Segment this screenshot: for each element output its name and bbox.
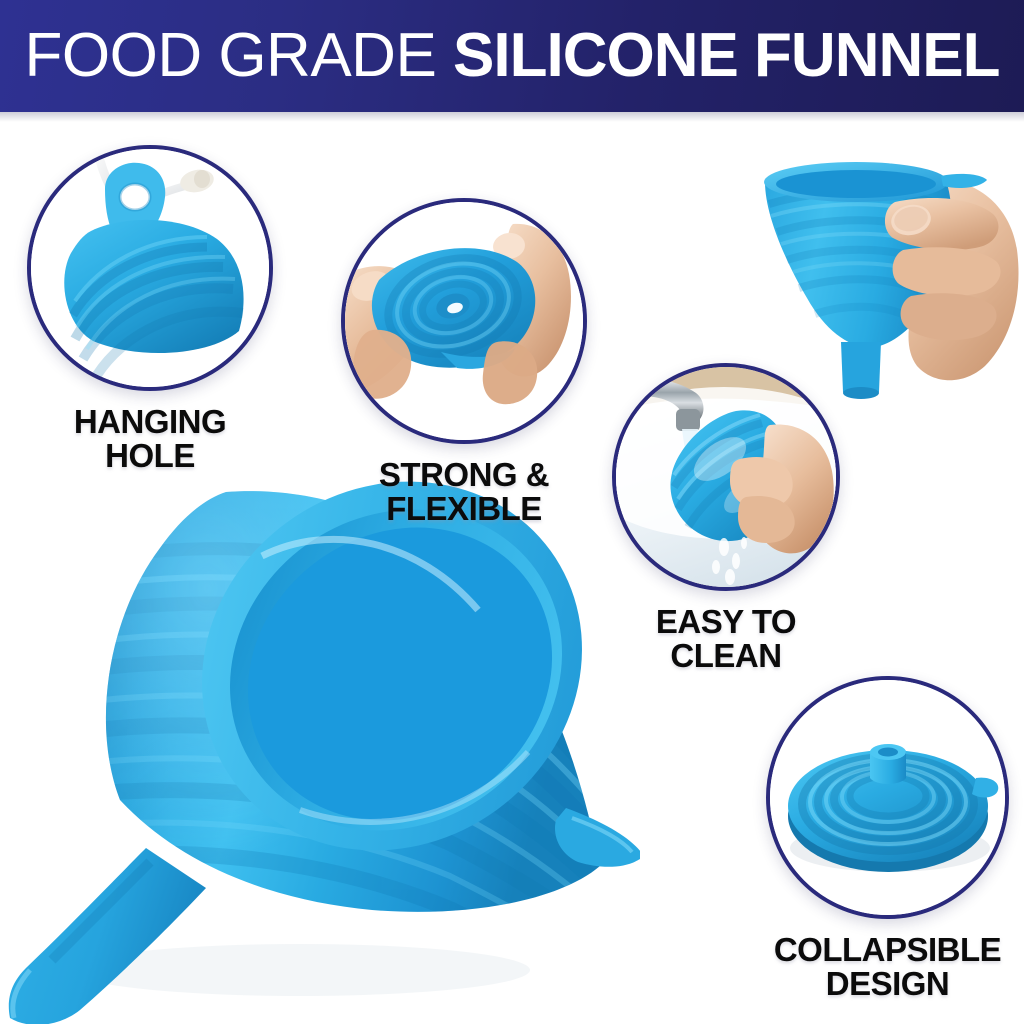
- hero-funnel-image: [0, 470, 640, 1024]
- feature-hanging-hole-caption: HANGING HOLE: [27, 405, 273, 474]
- feature-strong-flexible-caption: STRONG & FLEXIBLE: [341, 458, 587, 527]
- banner-shadow: [0, 112, 1024, 122]
- feature-strong-flexible-photo: [345, 202, 583, 440]
- caption-line-1: HANGING: [74, 403, 226, 440]
- caption-line-2: CLEAN: [612, 639, 840, 673]
- hand-fingers: [885, 198, 1001, 340]
- feature-collapsible-design-circle: [766, 676, 1009, 919]
- hero-funnel-art: [0, 470, 640, 1024]
- page-title-light: FOOD GRADE: [25, 21, 454, 90]
- caption-line-2: DESIGN: [766, 967, 1009, 1001]
- header-banner: FOOD GRADE SILICONE FUNNEL: [0, 0, 1024, 112]
- feature-strong-flexible: STRONG & FLEXIBLE: [341, 198, 587, 527]
- feature-hanging-hole-photo: [31, 149, 269, 387]
- feature-collapsible-design-caption: COLLAPSIBLE DESIGN: [766, 933, 1009, 1002]
- caption-line-1: STRONG &: [379, 456, 549, 493]
- caption-line-2: FLEXIBLE: [341, 492, 587, 526]
- page-title-bold: SILICONE FUNNEL: [453, 21, 999, 90]
- page-title: FOOD GRADE SILICONE FUNNEL: [15, 25, 1010, 87]
- caption-line-1: EASY TO: [656, 603, 796, 640]
- feature-easy-to-clean: EASY TO CLEAN: [612, 363, 840, 674]
- feature-collapsible-design: COLLAPSIBLE DESIGN: [766, 676, 1009, 1002]
- feature-easy-to-clean-photo: [616, 367, 836, 587]
- feature-strong-flexible-circle: [341, 198, 587, 444]
- feature-easy-to-clean-circle: [612, 363, 840, 591]
- feature-hanging-hole-circle: [27, 145, 273, 391]
- caption-line-1: COLLAPSIBLE: [774, 931, 1001, 968]
- feature-easy-to-clean-caption: EASY TO CLEAN: [612, 605, 840, 674]
- feature-hanging-hole: HANGING HOLE: [27, 145, 273, 474]
- feature-collapsible-design-photo: [770, 680, 1005, 915]
- caption-line-2: HOLE: [27, 439, 273, 473]
- infographic-page: FOOD GRADE SILICONE FUNNEL: [0, 0, 1024, 1024]
- funnel-spout: [9, 848, 206, 1024]
